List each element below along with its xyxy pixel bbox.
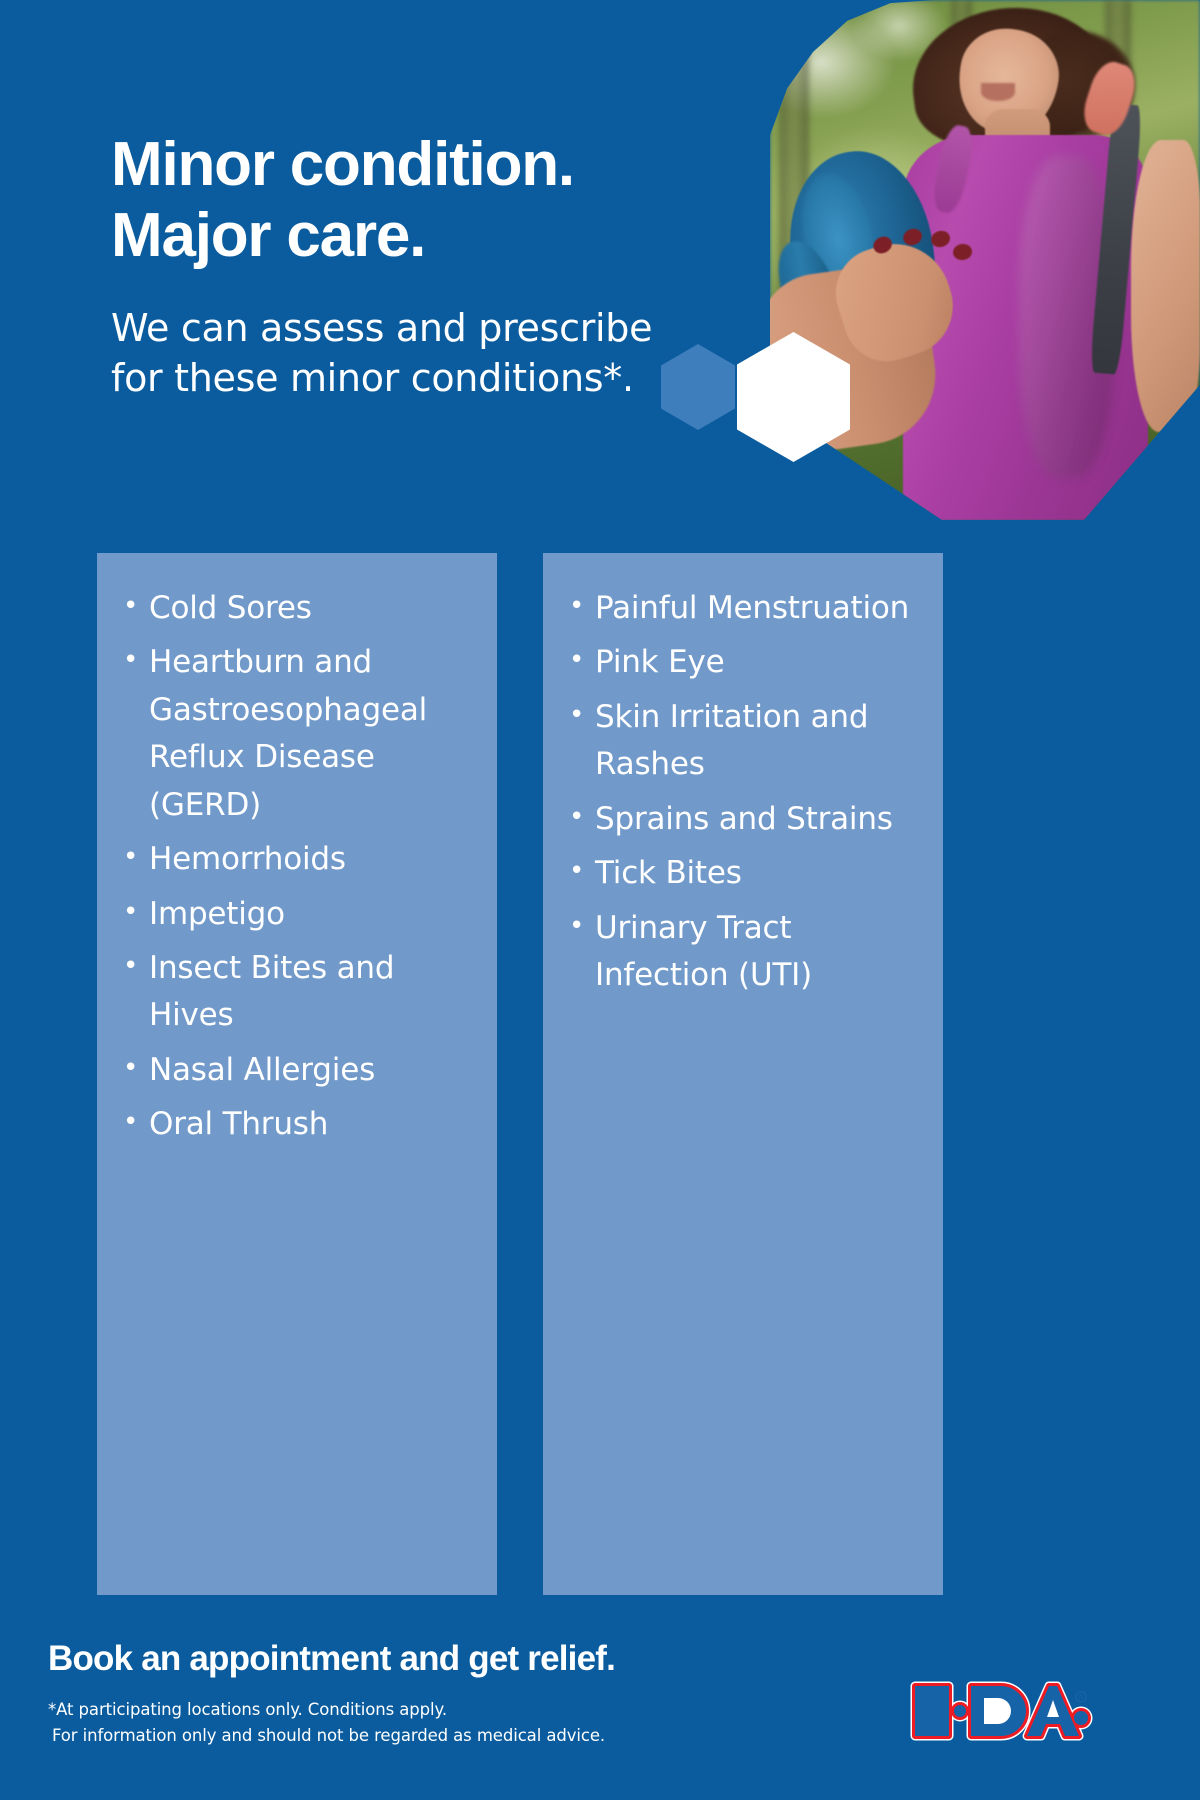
list-item: Skin Irritation and Rashes: [565, 694, 921, 789]
headline-line-2: Major care.: [111, 201, 731, 272]
ida-logo: R: [905, 1678, 1095, 1750]
fineprint: *At participating locations only. Condit…: [48, 1697, 605, 1748]
list-item: Heartburn and Gastroesophageal Reflux Di…: [119, 639, 475, 829]
conditions-list-left: Cold Sores Heartburn and Gastroesophagea…: [97, 553, 497, 1149]
fineprint-line-1: *At participating locations only. Condit…: [48, 1700, 447, 1719]
subheading: We can assess and prescribe for these mi…: [111, 303, 691, 403]
fineprint-line-2: For information only and should not be r…: [48, 1723, 605, 1749]
list-item: Impetigo: [119, 891, 475, 938]
list-item: Painful Menstruation: [565, 585, 921, 632]
list-item: Oral Thrush: [119, 1101, 475, 1148]
conditions-panel-left: Cold Sores Heartburn and Gastroesophagea…: [97, 553, 497, 1595]
hero-photo: [770, 0, 1200, 520]
conditions-panel-right: Painful Menstruation Pink Eye Skin Irrit…: [543, 553, 943, 1595]
list-item: Cold Sores: [119, 585, 475, 632]
list-item: Insect Bites and Hives: [119, 945, 475, 1040]
page-title: Minor condition. Major care.: [111, 130, 731, 271]
person-right-arm: [1131, 140, 1200, 431]
call-to-action: Book an appointment and get relief.: [48, 1639, 615, 1679]
list-item: Sprains and Strains: [565, 796, 921, 843]
person-smile: [981, 83, 1015, 101]
headline-line-1: Minor condition.: [111, 130, 574, 199]
list-item: Pink Eye: [565, 639, 921, 686]
poster-canvas: Minor condition. Major care. We can asse…: [0, 0, 1200, 1800]
conditions-list-right: Painful Menstruation Pink Eye Skin Irrit…: [543, 553, 943, 999]
svg-text:R: R: [1079, 1694, 1084, 1702]
list-item: Hemorrhoids: [119, 836, 475, 883]
list-item: Tick Bites: [565, 850, 921, 897]
list-item: Urinary Tract Infection (UTI): [565, 905, 921, 1000]
list-item: Nasal Allergies: [119, 1047, 475, 1094]
